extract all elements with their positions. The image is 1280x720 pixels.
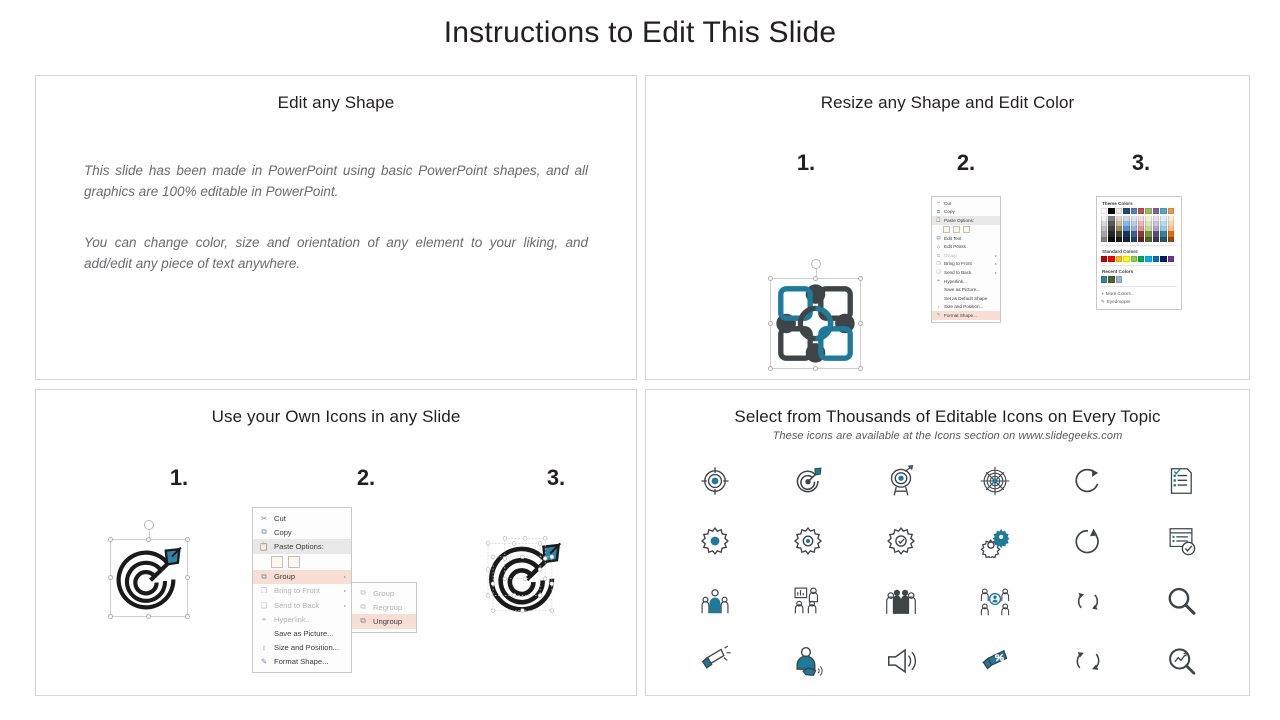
- chevron-right-icon: ▸: [342, 588, 346, 593]
- paragraph-1: This slide has been made in PowerPoint u…: [84, 161, 588, 203]
- theme-color-swatch[interactable]: [1138, 208, 1144, 214]
- theme-colors-label: Theme Colors: [1102, 201, 1177, 206]
- context-menu-item-label: Edit Text: [942, 236, 997, 241]
- step-number: 3.: [491, 467, 621, 489]
- standard-color-swatch[interactable]: [1138, 256, 1144, 262]
- size-icon: ↕: [258, 643, 270, 652]
- paste-options-row: [253, 554, 351, 570]
- more-colors-item[interactable]: ◑More Colors...: [1101, 290, 1177, 298]
- context-menu-item-label: Edit Points: [942, 244, 997, 249]
- chevron-right-icon: ▸: [342, 574, 346, 579]
- divider: [1101, 265, 1177, 266]
- ungrouped-target-icon[interactable]: [483, 535, 567, 619]
- megaphone-percent-icon[interactable]: [972, 638, 1018, 684]
- context-menu-item-label: Bring to Front: [942, 261, 993, 266]
- link-icon: ⚭: [258, 615, 270, 624]
- eyedropper-item-label: Eyedropper: [1107, 299, 1131, 304]
- theme-shade-swatch[interactable]: [1168, 237, 1174, 242]
- multi-selection-handles: [483, 535, 567, 619]
- context-menu-item-label: Group: [942, 253, 993, 258]
- divider: [1101, 245, 1177, 246]
- context-menu-item-save-as-picture[interactable]: Save as Picture...: [932, 285, 1000, 294]
- rotate-handle[interactable]: [144, 520, 154, 530]
- magnifier-icon[interactable]: [1158, 578, 1204, 624]
- step-1: 1.: [741, 152, 871, 174]
- standard-colors-row: [1101, 256, 1177, 262]
- panel-subheading: These icons are available at the Icons s…: [646, 430, 1249, 442]
- group-menu-wrap: ✂Cut⧉Copy📋Paste Options:⧉Group▸❐Bring to…: [252, 507, 417, 673]
- refresh-circle-icon[interactable]: [1065, 518, 1111, 564]
- more-colors-icon: ◑: [1101, 291, 1104, 296]
- paste-keep-formatting[interactable]: [943, 226, 950, 233]
- link-icon: ⚭: [935, 278, 942, 284]
- back-icon: ❑: [258, 601, 270, 610]
- eyedropper-icon: ✎: [1101, 299, 1105, 305]
- context-menu-item-label: Size and Position...: [942, 304, 997, 309]
- panel-heading: Edit any Shape: [36, 76, 636, 113]
- step-row: 1.: [36, 390, 636, 695]
- standard-colors-label: Standard Colors: [1102, 249, 1177, 254]
- dartboard-arrow-icon: [111, 540, 187, 616]
- sync-arrows-icon[interactable]: [1065, 578, 1111, 624]
- gear-check-icon[interactable]: [878, 518, 924, 564]
- context-menu-item-label: Paste Options:: [270, 542, 346, 551]
- context-menu-item-label: Paste Options:: [942, 218, 997, 223]
- theme-shade-swatch[interactable]: [1116, 237, 1122, 242]
- paste-picture[interactable]: [288, 556, 300, 568]
- resize-handle-top-right[interactable]: [185, 537, 190, 542]
- step-number: 2.: [301, 467, 431, 489]
- team-meeting-icon[interactable]: [972, 578, 1018, 624]
- context-menu-item-label: Hyperlink...: [942, 279, 997, 284]
- refresh-clockwise-icon[interactable]: [1065, 458, 1111, 504]
- paste-picture[interactable]: [953, 226, 960, 233]
- standard-color-swatch[interactable]: [1131, 256, 1137, 262]
- paragraph-2: You can change color, size and orientati…: [84, 233, 588, 275]
- resize-handle-middle-left[interactable]: [768, 321, 773, 326]
- context-menu-item-set-as-default-shape[interactable]: Set as Default Shape: [932, 294, 1000, 303]
- panel-heading: Select from Thousands of Editable Icons …: [646, 390, 1249, 427]
- resize-handle-top-center[interactable]: [146, 537, 151, 542]
- recent-color-swatch[interactable]: [1116, 276, 1122, 282]
- leader-team-icon[interactable]: [692, 578, 738, 624]
- standard-color-swatch[interactable]: [1116, 256, 1122, 262]
- group-icon: ⧉: [258, 572, 270, 582]
- person-megaphone-icon[interactable]: [785, 638, 831, 684]
- copy-icon: ⧉: [258, 527, 270, 537]
- checklist-verified-icon[interactable]: [1158, 518, 1204, 564]
- context-menu-item-copy[interactable]: ⧉Copy: [932, 208, 1000, 217]
- radar-target-icon[interactable]: [972, 458, 1018, 504]
- theme-color-swatch[interactable]: [1108, 208, 1114, 214]
- step-row: 1.: [646, 76, 1249, 379]
- presentation-team-icon[interactable]: [785, 578, 831, 624]
- ungroup-icon: ⧉: [357, 616, 369, 626]
- context-menu-item-save-as-picture[interactable]: Save as Picture...: [253, 626, 351, 640]
- theme-color-swatch[interactable]: [1123, 208, 1129, 214]
- scissors-icon: ✂: [258, 514, 270, 523]
- scissors-icon: ✂: [935, 200, 942, 206]
- context-menu-item-send-to-back[interactable]: ❑Send to Back▸: [932, 268, 1000, 277]
- context-menu-group[interactable]: ✂Cut⧉Copy📋Paste Options:⧉Group▸❐Bring to…: [252, 507, 352, 673]
- theme-shade-swatch[interactable]: [1145, 237, 1151, 242]
- edit-points-icon: ◇: [935, 244, 942, 250]
- step-number: 1.: [741, 152, 871, 174]
- paste-icon: 📋: [935, 217, 942, 223]
- step-1: 1.: [114, 467, 244, 489]
- context-menu-item-label: Copy: [270, 528, 346, 537]
- edit-text-icon: ▤: [935, 235, 942, 241]
- chevron-right-icon: ▸: [993, 253, 997, 258]
- rotate-handle[interactable]: [811, 259, 821, 269]
- context-menu-item-label: Ungroup: [369, 617, 411, 626]
- paste-options-row: [932, 225, 1000, 234]
- resize-handle-middle-right[interactable]: [185, 575, 190, 580]
- theme-shade-swatch[interactable]: [1131, 237, 1137, 242]
- context-menu-item-label: Format Shape...: [270, 657, 346, 666]
- standard-color-swatch[interactable]: [1123, 256, 1129, 262]
- checklist-document-icon[interactable]: [1158, 458, 1204, 504]
- context-menu-item-label: Hyperlink...: [270, 615, 346, 624]
- page-title: Instructions to Edit This Slide: [0, 16, 1280, 50]
- recent-colors-label: Recent Colors: [1102, 269, 1177, 274]
- panel-resize-and-color: Resize any Shape and Edit Color 1.: [645, 75, 1250, 380]
- context-menu-item-label: Save as Picture...: [270, 629, 346, 638]
- context-menu-item-group[interactable]: ⧉Group▸: [253, 570, 351, 584]
- theme-color-swatch[interactable]: [1101, 208, 1107, 214]
- context-menu-item-label: Group: [270, 572, 342, 581]
- context-menu-item-ungroup[interactable]: ⧉Ungroup: [352, 614, 416, 628]
- front-icon: ❐: [258, 586, 270, 595]
- context-menu-item-cut[interactable]: ✂Cut: [253, 511, 351, 525]
- theme-shade-swatch[interactable]: [1123, 237, 1129, 242]
- resize-handle-top-right[interactable]: [858, 276, 863, 281]
- chevron-right-icon: ▸: [342, 603, 346, 608]
- context-menu-item-edit-text[interactable]: ▤Edit Text: [932, 234, 1000, 243]
- format-icon: ✎: [258, 657, 270, 666]
- target-stand-icon[interactable]: [878, 458, 924, 504]
- body-copy: This slide has been made in PowerPoint u…: [36, 113, 636, 275]
- chevron-right-icon: ▸: [993, 270, 997, 275]
- resize-handle-top-left[interactable]: [768, 276, 773, 281]
- panel-edit-any-shape: Edit any Shape This slide has been made …: [35, 75, 637, 380]
- context-menu-item-label: Cut: [270, 514, 346, 523]
- theme-shade-swatch[interactable]: [1153, 237, 1159, 242]
- context-menu-item-label: Group: [369, 589, 411, 598]
- context-menu-item-hyperlink[interactable]: ⚭Hyperlink...: [932, 277, 1000, 286]
- context-menu-item-size-and-position[interactable]: ↕Size and Position...: [932, 303, 1000, 312]
- color-picker-panel[interactable]: Theme ColorsStandard ColorsRecent Colors…: [1096, 196, 1182, 310]
- selection-box-target-icon[interactable]: [110, 539, 188, 617]
- more-colors-item-label: More Colors...: [1106, 291, 1135, 296]
- context-menu-item-format-shape[interactable]: ✎Format Shape...: [253, 655, 351, 669]
- context-menu-item-edit-points[interactable]: ◇Edit Points: [932, 242, 1000, 251]
- theme-color-swatch[interactable]: [1160, 208, 1166, 214]
- divider: [1101, 286, 1177, 287]
- context-menu-item-size-and-position[interactable]: ↕Size and Position...: [253, 641, 351, 655]
- context-menu-item-label: Send to Back: [942, 270, 993, 275]
- resize-handle-bottom-center[interactable]: [813, 366, 818, 371]
- resize-handle-middle-right[interactable]: [858, 321, 863, 326]
- format-icon: ✎: [935, 312, 942, 318]
- context-menu-item-cut[interactable]: ✂Cut: [932, 199, 1000, 208]
- context-menu-item-label: Format Shape...: [942, 313, 997, 318]
- recent-color-swatch[interactable]: [1108, 276, 1114, 282]
- gears-pair-icon[interactable]: [972, 518, 1018, 564]
- step-2: 2.: [901, 152, 1031, 174]
- theme-shade-swatch[interactable]: [1138, 237, 1144, 242]
- icon-grid: [668, 458, 1228, 684]
- theme-color-swatch[interactable]: [1168, 208, 1174, 214]
- step-3: 3.: [491, 467, 621, 489]
- context-menu-item-format-shape[interactable]: ✎Format Shape...: [932, 311, 1000, 320]
- front-icon: ❐: [935, 261, 942, 267]
- theme-shade-swatch[interactable]: [1160, 237, 1166, 242]
- standard-color-swatch[interactable]: [1153, 256, 1159, 262]
- target-crosshair-icon[interactable]: [692, 458, 738, 504]
- context-menu-item-label: Copy: [942, 209, 997, 214]
- eyedropper-item[interactable]: ✎Eyedropper: [1101, 298, 1177, 306]
- group-icon: ⧉: [357, 588, 369, 598]
- context-menu-item-label: Cut: [942, 201, 997, 206]
- copy-icon: ⧉: [935, 209, 942, 214]
- recent-color-swatch[interactable]: [1101, 276, 1107, 282]
- resize-handle-middle-left[interactable]: [108, 575, 113, 580]
- context-menu-item-label: Save as Picture...: [942, 287, 997, 292]
- context-menu-item-label: Send to Back: [270, 601, 342, 610]
- resize-handle-bottom-left[interactable]: [108, 614, 113, 619]
- standard-color-swatch[interactable]: [1160, 256, 1166, 262]
- context-menu-item-regroup: ⧉Regroup: [352, 600, 416, 614]
- context-menu-item-label: Bring to Front: [270, 586, 342, 595]
- regroup-icon: ⧉: [357, 602, 369, 612]
- theme-shade-swatch[interactable]: [1108, 237, 1114, 242]
- group-icon: ⧉: [935, 253, 942, 258]
- step-number: 3.: [1076, 152, 1206, 174]
- standard-color-swatch[interactable]: [1108, 256, 1114, 262]
- paste-keep-formatting[interactable]: [271, 556, 283, 568]
- context-menu-item-group: ⧉Group▸: [932, 251, 1000, 260]
- step-number: 2.: [901, 152, 1031, 174]
- context-menu-item-bring-to-front[interactable]: ❐Bring to Front▸: [932, 260, 1000, 269]
- theme-shade-swatch[interactable]: [1101, 237, 1107, 242]
- context-menu-item-paste-options[interactable]: 📋Paste Options:: [253, 539, 351, 553]
- standard-color-swatch[interactable]: [1145, 256, 1151, 262]
- back-icon: ❑: [935, 269, 942, 275]
- resize-handle-top-center[interactable]: [813, 276, 818, 281]
- context-menu-item-paste-options[interactable]: 📋Paste Options:: [932, 216, 1000, 225]
- context-menu-item-label: Regroup: [369, 603, 411, 612]
- resize-handle-bottom-left[interactable]: [768, 366, 773, 371]
- paste-keep-text[interactable]: [963, 226, 970, 233]
- selection-box-shape[interactable]: [770, 278, 861, 369]
- group-people-icon[interactable]: [878, 578, 924, 624]
- step-3: 3.: [1076, 152, 1206, 174]
- standard-color-swatch[interactable]: [1168, 256, 1174, 262]
- context-menu-item-send-to-back: ❑Send to Back▸: [253, 598, 351, 612]
- recent-colors-row: [1101, 276, 1177, 282]
- dartboard-arrow-icon[interactable]: [785, 458, 831, 504]
- context-menu-item-hyperlink: ⚭Hyperlink...: [253, 612, 351, 626]
- theme-color-swatch[interactable]: [1116, 208, 1122, 214]
- magnifier-chart-icon[interactable]: [1158, 638, 1204, 684]
- theme-colors-grid: [1101, 208, 1177, 242]
- theme-color-swatch[interactable]: [1145, 208, 1151, 214]
- standard-color-swatch[interactable]: [1101, 256, 1107, 262]
- paste-icon: 📋: [258, 542, 270, 551]
- theme-color-swatch[interactable]: [1131, 208, 1137, 214]
- size-icon: ↕: [935, 304, 942, 309]
- resize-handle-bottom-right[interactable]: [858, 366, 863, 371]
- gear-filled-icon[interactable]: [692, 518, 738, 564]
- gear-dot-icon[interactable]: [785, 518, 831, 564]
- panel-own-icons: Use your Own Icons in any Slide 1.: [35, 389, 637, 696]
- context-menu-item-label: Set as Default Shape: [942, 296, 997, 301]
- context-menu-shape[interactable]: ✂Cut⧉Copy📋Paste Options:▤Edit Text◇Edit …: [931, 196, 1001, 323]
- cycle-arrows-icon[interactable]: [1065, 638, 1111, 684]
- theme-color-swatch[interactable]: [1153, 208, 1159, 214]
- context-menu-item-bring-to-front: ❐Bring to Front▸: [253, 584, 351, 598]
- four-square-target-shape: [771, 279, 860, 368]
- step-number: 1.: [114, 467, 244, 489]
- resize-handle-bottom-center[interactable]: [146, 614, 151, 619]
- resize-handle-bottom-right[interactable]: [185, 614, 190, 619]
- panel-icon-library: Select from Thousands of Editable Icons …: [645, 389, 1250, 696]
- slide-canvas: Instructions to Edit This Slide Edit any…: [0, 0, 1280, 720]
- speaker-announce-icon[interactable]: [878, 638, 924, 684]
- context-submenu-group[interactable]: ⧉Group⧉Regroup⧉Ungroup: [351, 582, 417, 633]
- megaphone-icon[interactable]: [692, 638, 738, 684]
- resize-handle-top-left[interactable]: [108, 537, 113, 542]
- context-menu-item-group: ⧉Group: [352, 586, 416, 600]
- step-2: 2.: [301, 467, 431, 489]
- context-menu-item-copy[interactable]: ⧉Copy: [253, 525, 351, 539]
- context-menu-item-label: Size and Position...: [270, 643, 346, 652]
- chevron-right-icon: ▸: [993, 261, 997, 266]
